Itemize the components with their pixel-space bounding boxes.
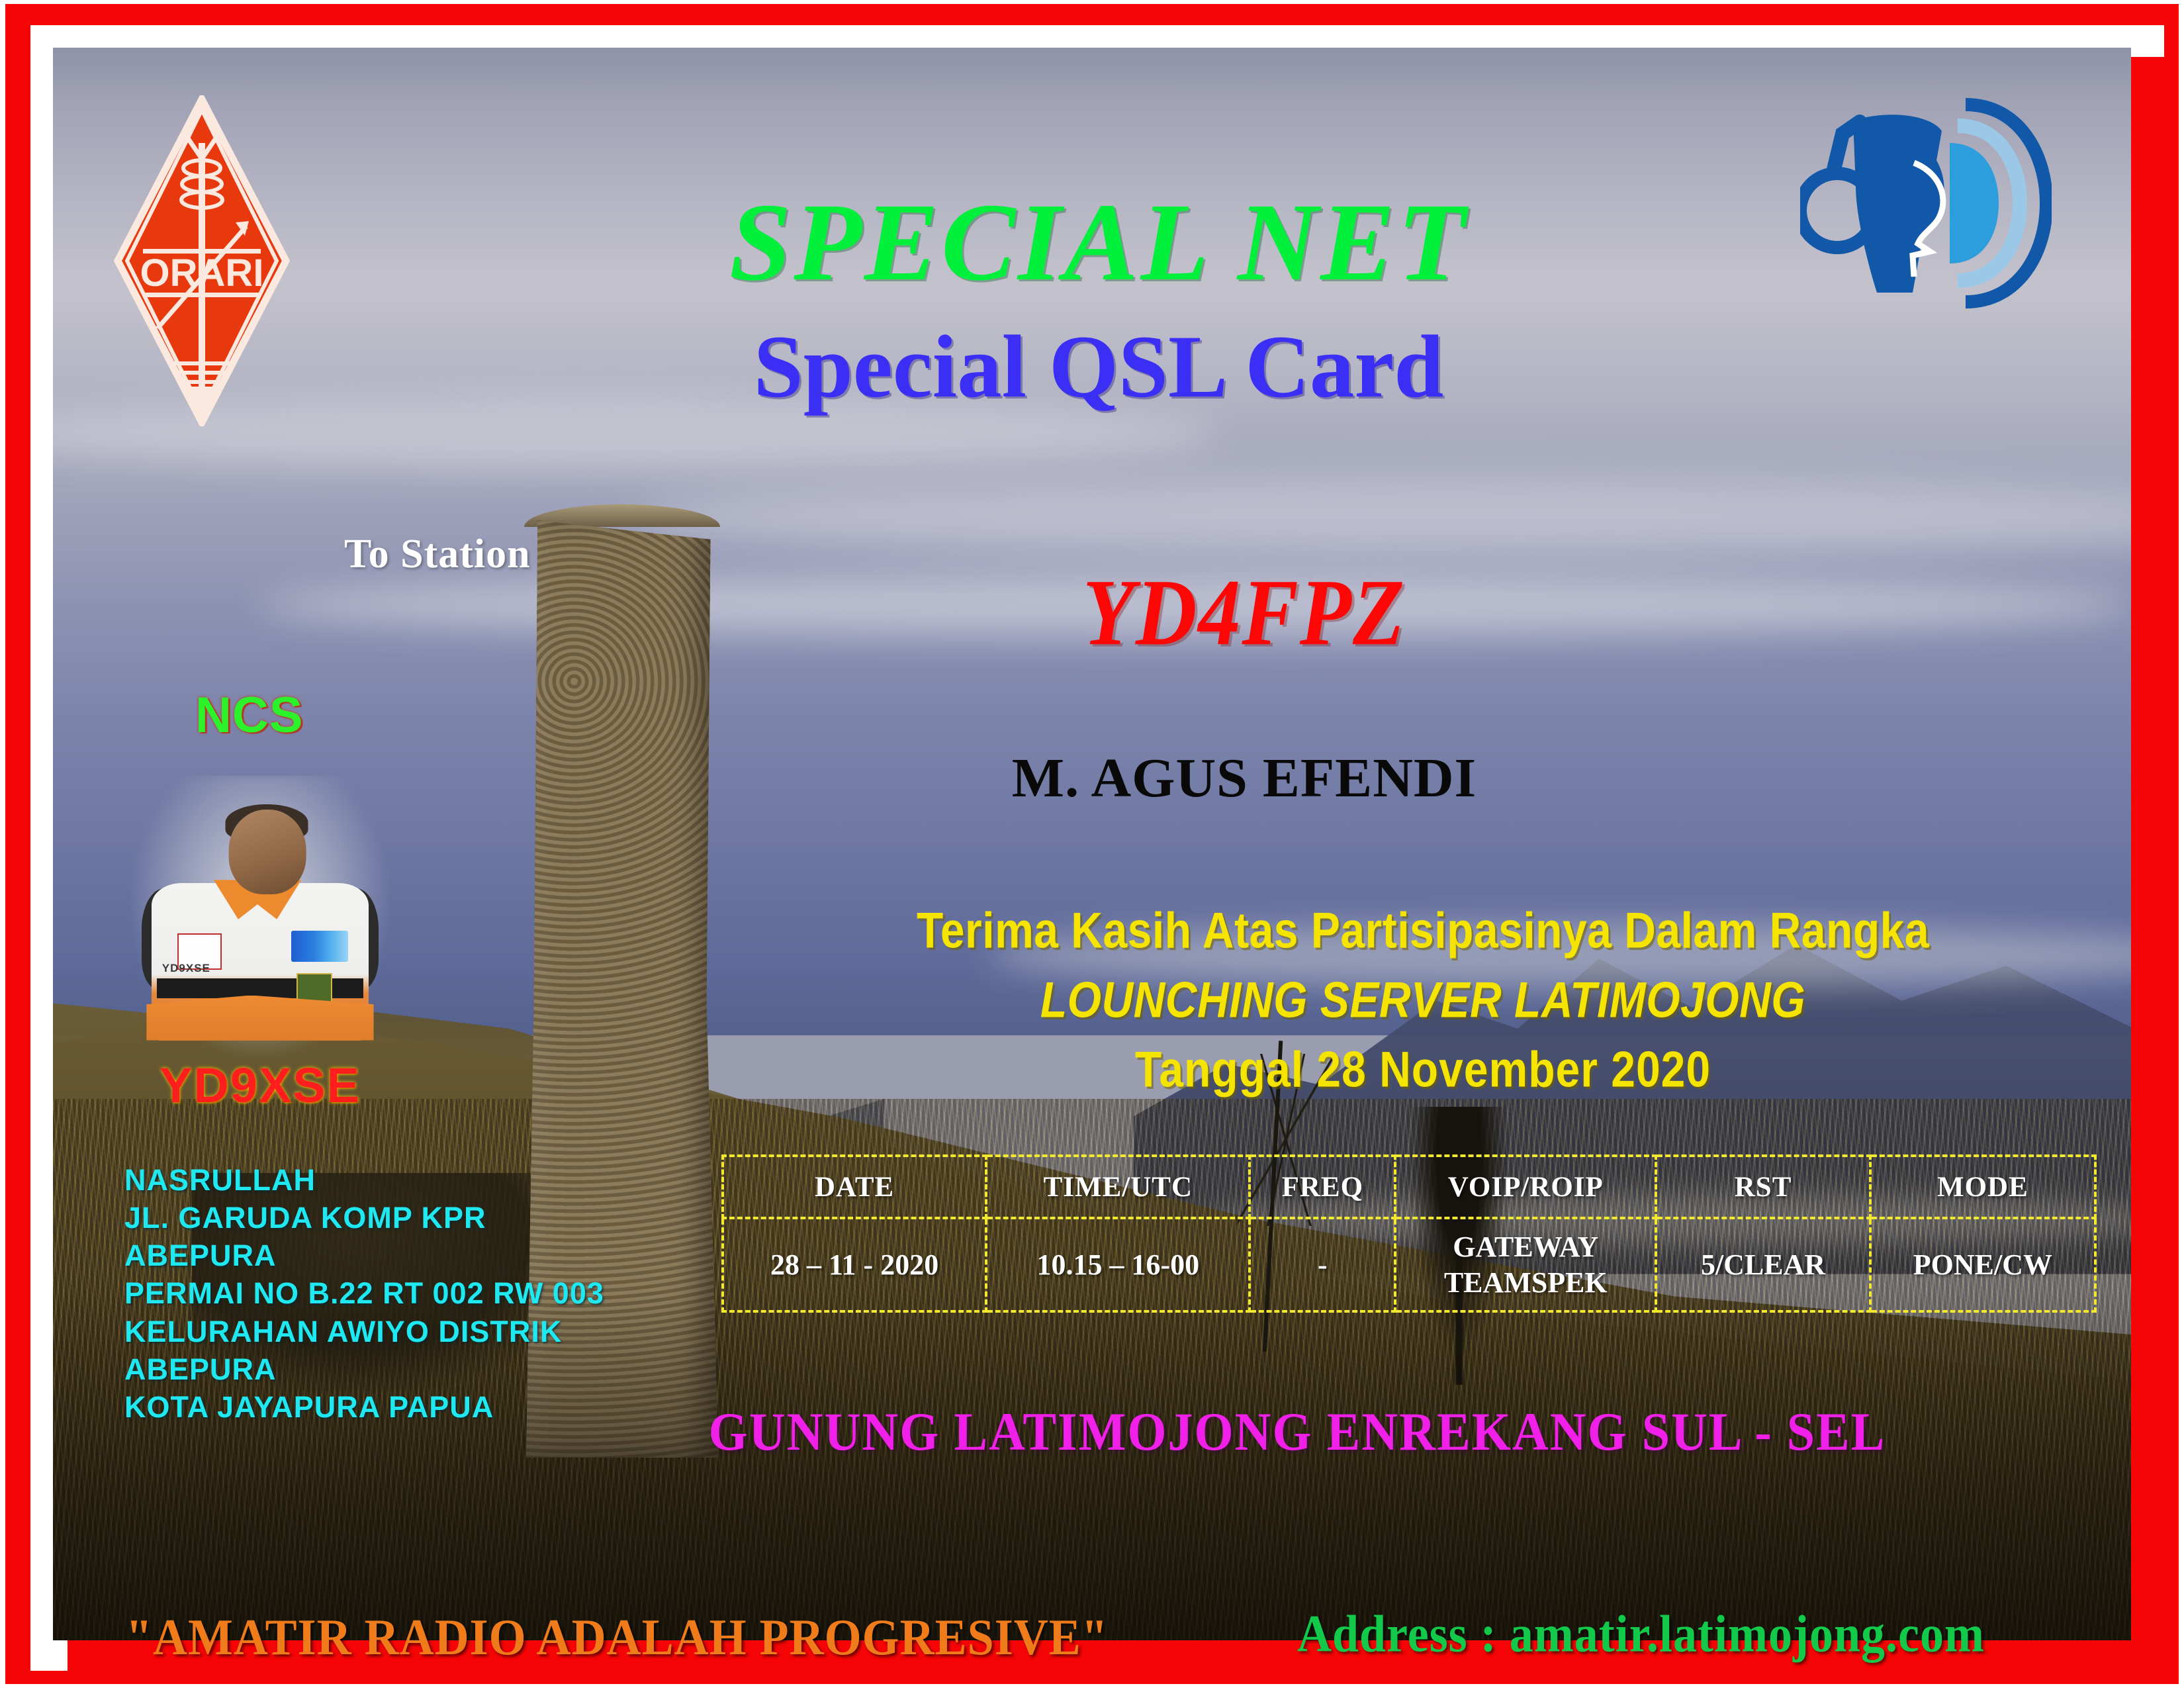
ncs-callsign: YD9XSE bbox=[131, 1057, 389, 1113]
footer-motto: "AMATIR RADIO ADALAH PROGRESIVE" bbox=[126, 1608, 1109, 1667]
address-line: JL. GARUDA KOMP KPR bbox=[124, 1199, 667, 1237]
to-station-label: To Station bbox=[344, 531, 531, 578]
page-subtitle: Special QSL Card bbox=[477, 322, 1721, 412]
footer-address: Address : amatir.latimojong.com bbox=[1297, 1604, 1985, 1664]
cell-freq: - bbox=[1250, 1218, 1395, 1311]
location-label: GUNUNG LATIMOJONG ENREKANG SUL - SEL bbox=[569, 1401, 2025, 1464]
table-row: 28 – 11 - 2020 10.15 – 16-00 - GATEWAY T… bbox=[723, 1218, 2095, 1311]
photo-badge-right bbox=[291, 931, 348, 962]
column-header-time: TIME/UTC bbox=[986, 1156, 1250, 1218]
photo-shirt-callsign: YD9XSE bbox=[162, 962, 210, 975]
event-date: Tanggal 28 November 2020 bbox=[754, 1040, 2091, 1098]
orari-logo: ORARI bbox=[113, 95, 291, 426]
address-line: ABEPURA bbox=[124, 1350, 667, 1388]
column-header-mode: MODE bbox=[1870, 1156, 2095, 1218]
cell-voip-roip-line2: TEAMSPEK bbox=[1444, 1266, 1608, 1299]
cell-voip-roip: GATEWAY TEAMSPEK bbox=[1395, 1218, 1656, 1311]
address-line: KELURAHAN AWIYO DISTRIK bbox=[124, 1313, 667, 1350]
photo-face bbox=[228, 810, 306, 894]
event-title: LOUNCHING SERVER LATIMOJONG bbox=[754, 970, 2091, 1028]
column-header-rst: RST bbox=[1656, 1156, 1870, 1218]
cell-date: 28 – 11 - 2020 bbox=[723, 1218, 986, 1311]
operator-name: M. AGUS EFENDI bbox=[847, 746, 1641, 810]
cell-time: 10.15 – 16-00 bbox=[986, 1218, 1250, 1311]
thanks-message: Terima Kasih Atas Partisipasinya Dalam R… bbox=[754, 901, 2091, 959]
headphone-face-logo bbox=[1800, 94, 2052, 312]
column-header-freq: FREQ bbox=[1250, 1156, 1395, 1218]
cell-mode: PONE/CW bbox=[1870, 1218, 2095, 1311]
orari-logo-text: ORARI bbox=[140, 252, 264, 295]
address-line: ABEPURA bbox=[124, 1237, 667, 1274]
cell-rst: 5/CLEAR bbox=[1656, 1218, 1870, 1311]
page-title: SPECIAL NET bbox=[477, 187, 1721, 298]
photo-sash bbox=[146, 996, 373, 1041]
cell-voip-roip-line1: GATEWAY bbox=[1453, 1231, 1598, 1263]
card-content: ORARI SPECIAL NET Special QSL Ca bbox=[53, 48, 2131, 1640]
address-line: PERMAI NO B.22 RT 002 RW 003 bbox=[124, 1274, 667, 1312]
column-header-date: DATE bbox=[723, 1156, 986, 1218]
column-header-voip-roip: VOIP/ROIP bbox=[1395, 1156, 1656, 1218]
ncs-operator-photo: YD9XSE bbox=[131, 776, 389, 1057]
qsl-card: ORARI SPECIAL NET Special QSL Ca bbox=[0, 0, 2184, 1688]
table-header-row: DATE TIME/UTC FREQ VOIP/ROIP RST MODE bbox=[723, 1156, 2095, 1218]
sender-address: NASRULLAH JL. GARUDA KOMP KPR ABEPURA PE… bbox=[124, 1161, 667, 1426]
qso-log-table: DATE TIME/UTC FREQ VOIP/ROIP RST MODE 28… bbox=[721, 1154, 2097, 1313]
ncs-label: NCS bbox=[195, 686, 303, 744]
station-callsign: YD4FPZ bbox=[880, 558, 1608, 667]
address-line: NASRULLAH bbox=[124, 1161, 667, 1199]
